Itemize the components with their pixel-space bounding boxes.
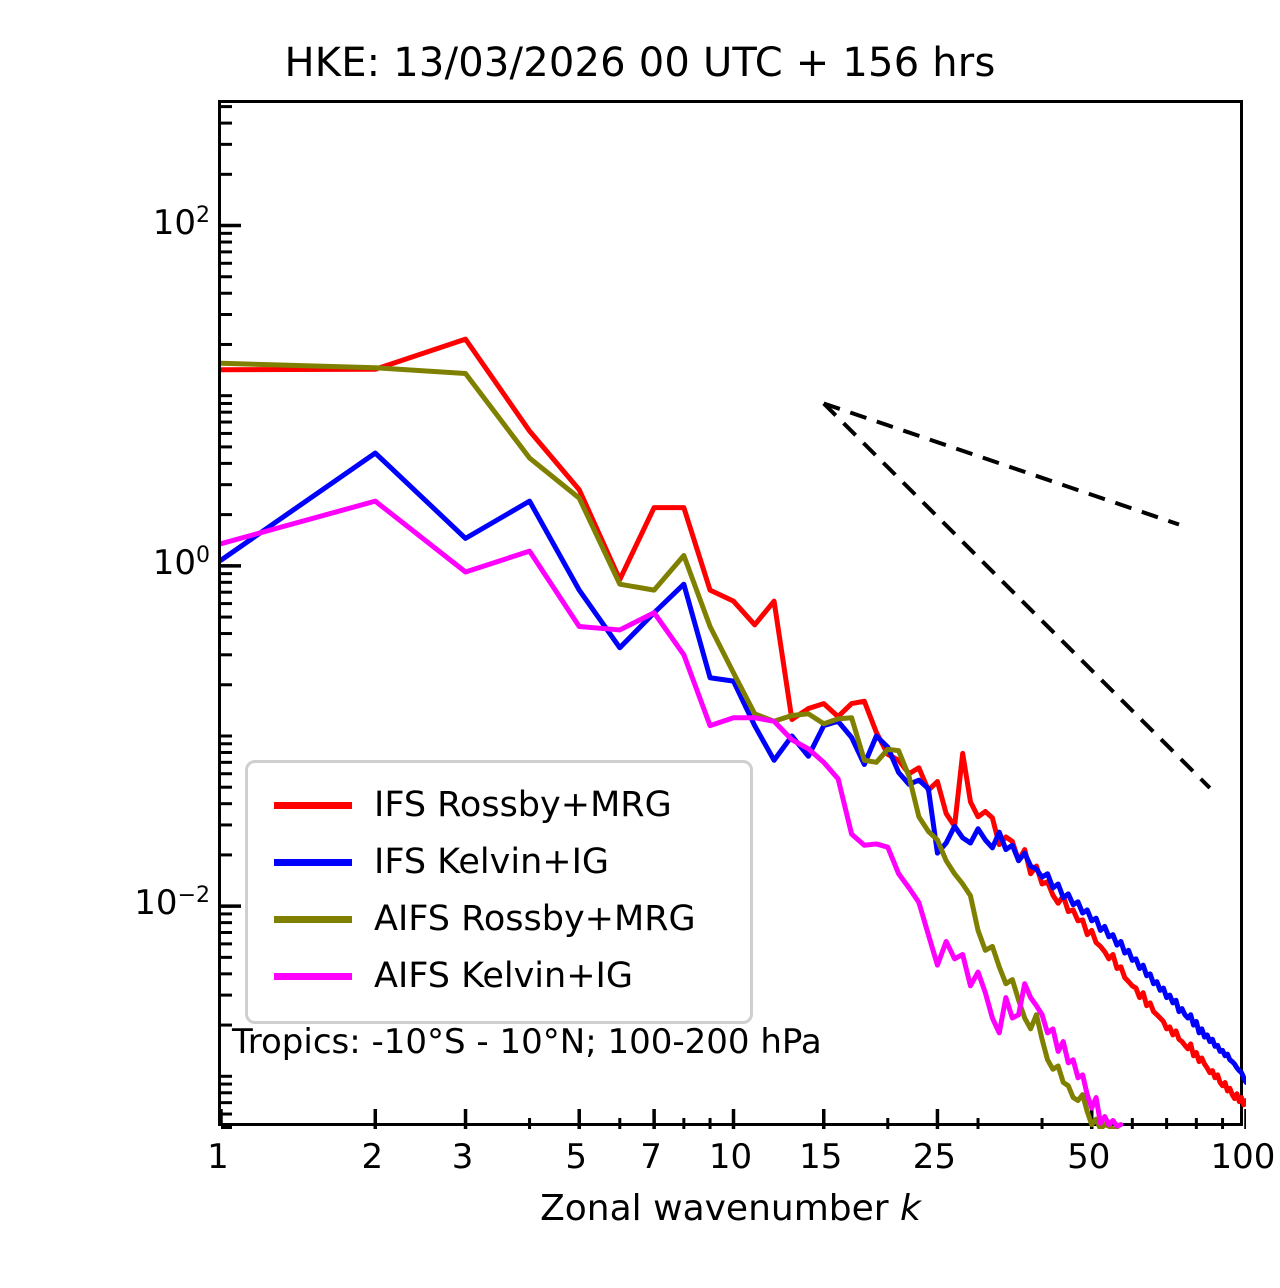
- legend-item-3[interactable]: AIFS Kelvin+IG: [266, 948, 732, 1005]
- legend-color-swatch: [274, 916, 352, 923]
- legend-item-1[interactable]: IFS Kelvin+IG: [266, 834, 732, 891]
- x-tick-label: 1: [207, 1137, 229, 1177]
- figure-canvas: HKE: 13/03/2026 00 UTC + 156 hrs Horizon…: [0, 0, 1280, 1288]
- x-tick-label: 25: [913, 1137, 956, 1177]
- legend-box[interactable]: IFS Rossby+MRGIFS Kelvin+IGAIFS Rossby+M…: [245, 760, 753, 1024]
- legend-item-label: AIFS Rossby+MRG: [374, 902, 696, 937]
- x-axis-label: Zonal wavenumber k: [218, 1188, 1243, 1229]
- legend-item-label: IFS Rossby+MRG: [374, 788, 672, 823]
- legend-item-2[interactable]: AIFS Rossby+MRG: [266, 891, 732, 948]
- reference-line-1: [824, 403, 1210, 787]
- legend-color-swatch: [274, 859, 352, 866]
- y-tick-label: 102: [153, 202, 210, 242]
- chart-title: HKE: 13/03/2026 00 UTC + 156 hrs: [0, 38, 1280, 88]
- legend-item-label: AIFS Kelvin+IG: [374, 959, 633, 994]
- y-tick-label: 100: [153, 543, 210, 583]
- x-tick-label: 10: [709, 1137, 752, 1177]
- x-tick-label: 5: [565, 1137, 587, 1177]
- x-tick-label: 2: [361, 1137, 383, 1177]
- legend-item-label: IFS Kelvin+IG: [374, 845, 609, 880]
- y-tick-label: 10−2: [134, 883, 210, 923]
- x-tick-label: 3: [452, 1137, 474, 1177]
- x-tick-label: 100: [1211, 1137, 1276, 1177]
- region-annotation: Tropics: -10°S - 10°N; 100-200 hPa: [232, 1022, 822, 1062]
- legend-color-swatch: [274, 802, 352, 809]
- legend-color-swatch: [274, 973, 352, 980]
- legend-item-0[interactable]: IFS Rossby+MRG: [266, 777, 732, 834]
- reference-line-0: [824, 403, 1179, 524]
- x-tick-label: 50: [1067, 1137, 1110, 1177]
- x-tick-label: 7: [640, 1137, 662, 1177]
- x-tick-label: 15: [799, 1137, 842, 1177]
